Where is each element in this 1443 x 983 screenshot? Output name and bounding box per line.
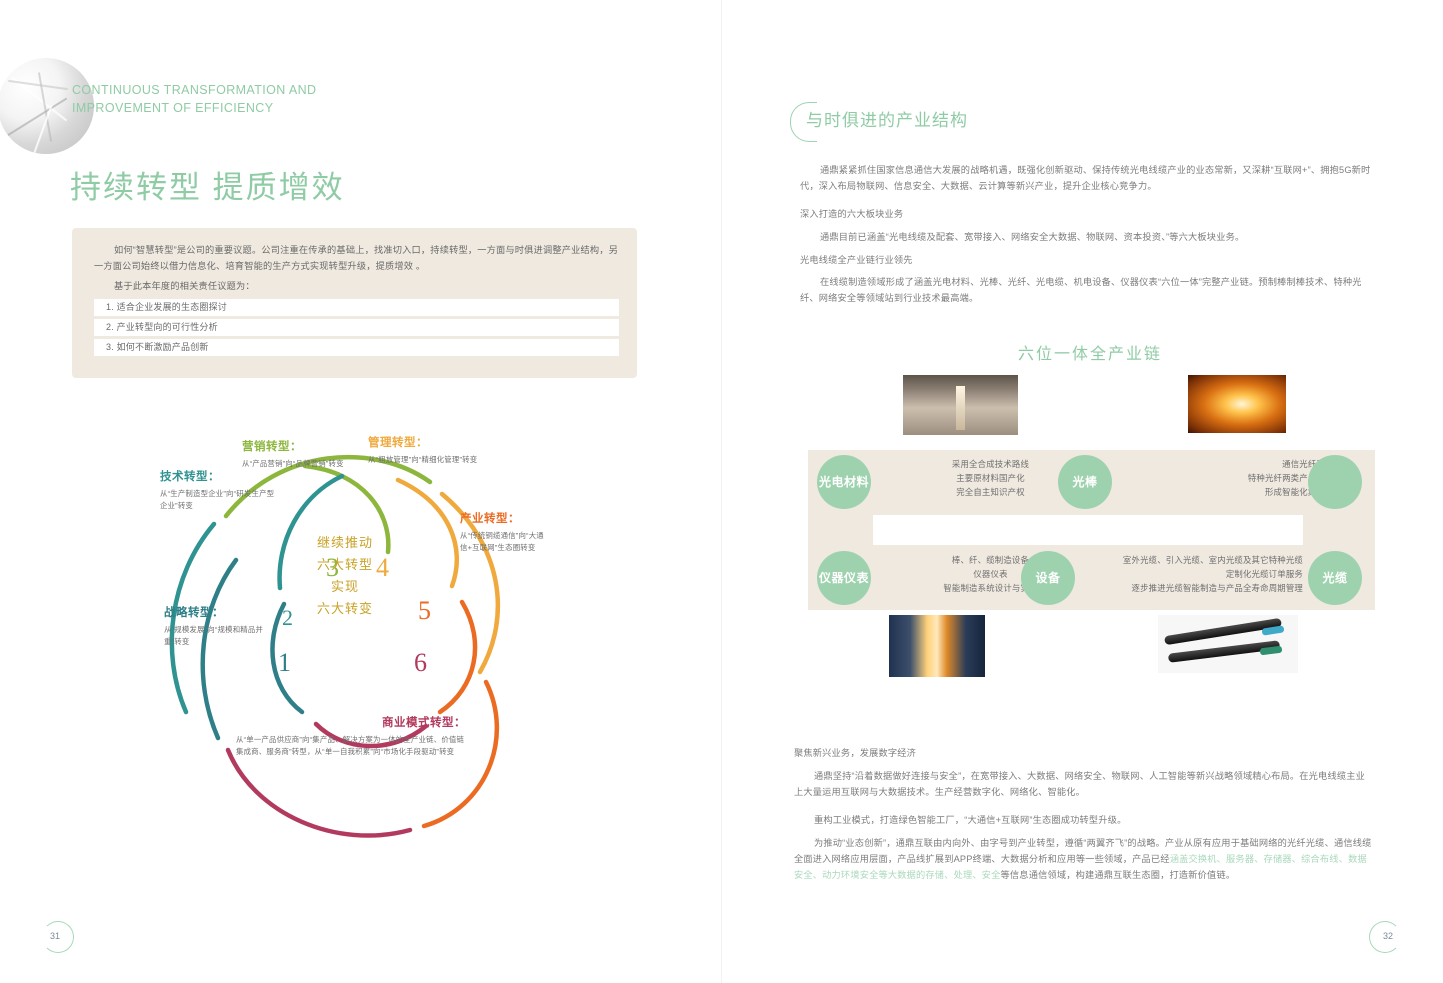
body-paragraph-3: 在线缆制造领域形成了涵盖光电材料、光棒、光纤、光电缆、机电设备、仪器仪表“六位一… (800, 274, 1380, 306)
optical-cable-samples-photo (1158, 615, 1298, 673)
segment-title: 管理转型： (368, 436, 486, 451)
segment-title: 商业模式转型： (236, 716, 466, 731)
chain-text-preform: 通信光纤和 特种光纤两类产品线 形成智能化集群 (1125, 457, 1325, 499)
segment-body: 从“生产制造型企业”向“研发生产型企业”转变 (160, 488, 278, 511)
chain-text-line: 形成智能化集群 (1125, 485, 1325, 499)
page-number-right: 32 (1347, 921, 1401, 951)
intro-paragraph-2: 基于此本年度的相关责任议题为： (94, 278, 619, 294)
section-title: 与时俱进的产业结构 (806, 106, 968, 131)
intro-paragraph-1: 如何“智慧转型”是公司的重要议题。公司注重在传承的基础上，找准切入口，持续转型，… (94, 242, 619, 274)
drawing-tower-photo (889, 615, 985, 677)
section-eyebrow-english: CONTINUOUS TRANSFORMATION AND IMPROVEMEN… (72, 82, 402, 118)
segment-title: 产业转型： (460, 512, 550, 527)
page-number-left: 31 (42, 921, 96, 951)
footer-paragraph-1: 通鼎坚持“沿着数据做好连接与安全”，在宽带接入、大数据、网络安全、物联网、人工智… (794, 768, 1374, 800)
bubble-label: 光电材料 (819, 475, 869, 489)
chain-diagram-title: 六位一体全产业链 (800, 340, 1380, 364)
footer-paragraph-3: 为推动“业态创新”，通鼎互联由内向外、由字号到产业转型，遵循“两翼齐飞”的战略。… (794, 835, 1374, 883)
bubble-label: 光棒 (1072, 475, 1097, 489)
center-line-2: 六大转型 (285, 554, 405, 576)
segment-body: 从“传统铜缆通信”向“大通信+互联网”生态圈转变 (460, 530, 550, 553)
segment-label-industry: 产业转型： 从“传统铜缆通信”向“大通信+互联网”生态圈转变 (460, 512, 550, 553)
segment-label-technology: 技术转型： 从“生产制造型企业”向“研发生产型企业”转变 (160, 470, 278, 511)
last-paragraph-after: 等信息通信领域，构建通鼎互联生态圈，打造新价值链。 (1001, 870, 1236, 880)
chain-text-line: 定制化光缆订单服务 (1088, 567, 1303, 581)
page-number-value: 32 (1383, 931, 1393, 941)
segment-label-management: 管理转型： 从“粗放管理”向“精细化管理”转变 (368, 436, 486, 466)
chain-text-line: 室外光缆、引入光缆、室内光缆及其它特种光缆 (1088, 553, 1303, 567)
footer-paragraph-2: 重构工业模式，打造绿色智能工厂，“大通信+互联网”生态圈成功转型升级。 (794, 812, 1374, 828)
bubble-label: 设备 (1035, 571, 1060, 585)
right-page: 与时俱进的产业结构 通鼎紧紧抓住国家信息通信大发展的战略机遇，既强化创新驱动、保… (722, 0, 1443, 983)
diagram-center-text: 继续推动 六大转型 实现 六大转变 (285, 532, 405, 620)
segment-number-5: 5 (418, 596, 431, 626)
chain-bubble-optical-cable[interactable]: 光缆 (1308, 551, 1362, 605)
segment-title: 营销转型： (242, 440, 362, 455)
section-header: 与时俱进的产业结构 (790, 100, 1210, 142)
footer-subhead: 聚焦新兴业务，发展数字经济 (794, 745, 1374, 761)
segment-number-1: 1 (278, 648, 291, 678)
segment-body: 从“产品营销”向“品牌营销”转变 (242, 458, 362, 470)
chain-bubble-optoelectronic-material[interactable]: 光电材料 (817, 455, 871, 509)
segment-title: 技术转型： (160, 470, 278, 485)
six-in-one-chain-diagram: 光电材料 采用全合成技术路线 主要原材料国产化 完全自主知识产权 光棒 通信光纤… (803, 375, 1380, 705)
chain-text-line: 特种光纤两类产品线 (1125, 471, 1325, 485)
chain-bubble-equipment[interactable]: 设备 (1021, 551, 1075, 605)
chain-bubble-instruments[interactable]: 仪器仪表 (817, 551, 871, 605)
segment-body: 从“粗放管理”向“精细化管理”转变 (368, 454, 486, 466)
glowing-preform-furnace-photo (1188, 375, 1286, 433)
chain-text-equipment: 室外光缆、引入光缆、室内光缆及其它特种光缆 定制化光缆订单服务 逐步推进光缆智能… (1088, 553, 1303, 595)
bubble-label: 仪器仪表 (819, 571, 869, 585)
chain-bubble-fiber[interactable] (1308, 455, 1362, 509)
center-line-4: 六大转变 (285, 598, 405, 620)
six-transformations-diagram: 2 1 3 4 5 6 继续推动 六大转型 实现 六大转变 营销转型： 从“产品… (130, 420, 550, 860)
issue-list: 1. 适合企业发展的生态圈探讨 2. 产业转型向的可行性分析 3. 如何不断激励… (94, 299, 619, 359)
segment-body: 从“规模发展”向“规模和精品并重”转变 (164, 624, 276, 647)
bubble-label: 光缆 (1322, 571, 1347, 585)
segment-number-6: 6 (414, 648, 427, 678)
left-page: CONTINUOUS TRANSFORMATION AND IMPROVEMEN… (0, 0, 721, 983)
center-line-1: 继续推动 (285, 532, 405, 554)
body-paragraph-2: 通鼎目前已涵盖“光电线缆及配套、宽带接入、网络安全大数据、物联网、资本投资、”等… (800, 229, 1380, 245)
segment-label-marketing: 营销转型： 从“产品营销”向“品牌营销”转变 (242, 440, 362, 470)
chain-band-cutout (873, 515, 1303, 545)
optical-preform-racks-photo (903, 375, 1018, 435)
segment-label-business-model: 商业模式转型： 从“单一产品供应商”向“集产品、解决方案为一体的全产业链、价值链… (236, 716, 466, 757)
body-subhead-2: 光电线缆全产业链行业领先 (800, 252, 1380, 268)
chain-text-line: 通信光纤和 (1125, 457, 1325, 471)
center-line-3: 实现 (285, 576, 405, 598)
chain-bubble-preform[interactable]: 光棒 (1058, 455, 1112, 509)
segment-title: 战略转型： (164, 606, 276, 621)
body-subhead-1: 深入打造的六大板块业务 (800, 206, 1380, 222)
page-title: 持续转型 提质增效 (70, 162, 345, 207)
list-item: 2. 产业转型向的可行性分析 (94, 319, 619, 336)
responsibility-issues-panel: 如何“智慧转型”是公司的重要议题。公司注重在传承的基础上，找准切入口，持续转型，… (72, 228, 637, 378)
page-number-value: 31 (50, 931, 60, 941)
body-paragraph-1: 通鼎紧紧抓住国家信息通信大发展的战略机遇，既强化创新驱动、保持传统光电线缆产业的… (800, 162, 1380, 194)
list-item: 3. 如何不断激励产品创新 (94, 339, 619, 356)
list-item: 1. 适合企业发展的生态圈探讨 (94, 299, 619, 316)
chain-text-line: 逐步推进光缆智能制造与产品全寿命周期管理 (1088, 581, 1303, 595)
segment-label-strategy: 战略转型： 从“规模发展”向“规模和精品并重”转变 (164, 606, 276, 647)
segment-body: 从“单一产品供应商”向“集产品、解决方案为一体的全产业链、价值链集成商、服务商”… (236, 734, 466, 757)
